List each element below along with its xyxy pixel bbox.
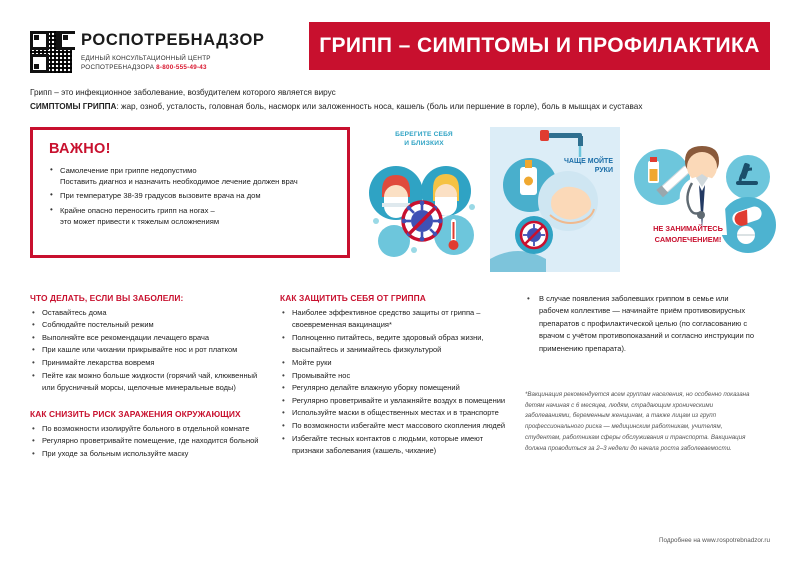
content-columns: ЧТО ДЕЛАТЬ, ЕСЛИ ВЫ ЗАБОЛЕЛИ: Оставайтес… (0, 275, 800, 461)
important-list: Самолечение при гриппе недопустимо Поста… (49, 165, 333, 228)
list-item: При уходе за больным используйте маску (30, 448, 266, 461)
people-virus-graphic (364, 155, 484, 267)
illustration-doctor: НЕ ЗАНИМАЙТЕСЬ САМОЛЕЧЕНИЕМ! (626, 127, 770, 272)
important-item: это может привести к тяжелым осложнениям (49, 216, 333, 228)
wash-hands-graphic (490, 127, 620, 272)
list-item: Принимайте лекарства вовремя (30, 357, 266, 370)
qr-code-icon (30, 31, 72, 73)
list-item: Промывайте нос (280, 370, 511, 383)
intro-definition: Грипп – это инфекционное заболевание, во… (30, 86, 770, 100)
middle-zone: ВАЖНО! Самолечение при гриппе недопустим… (0, 115, 800, 275)
rospotrebnadzor-logo: РОСПОТРЕБНАДЗОР ЕДИНЫЙ КОНСУЛЬТАЦИОННЫЙ … (30, 22, 295, 82)
column-how-to-protect: КАК ЗАЩИТИТЬ СЕБЯ ОТ ГРИППА Наиболее эфф… (280, 293, 525, 461)
list-item: Выполняйте все рекомендации лечащего вра… (30, 332, 266, 345)
intro-symptoms: СИМПТОМЫ ГРИППА: жар, озноб, усталость, … (30, 100, 770, 114)
poster-header: РОСПОТРЕБНАДЗОР ЕДИНЫЙ КОНСУЛЬТАЦИОННЫЙ … (0, 0, 800, 82)
symptoms-label: СИМПТОМЫ ГРИППА (30, 102, 116, 111)
column-what-to-do: ЧТО ДЕЛАТЬ, ЕСЛИ ВЫ ЗАБОЛЕЛИ: Оставайтес… (30, 293, 280, 461)
list-item: Мойте руки (280, 357, 511, 370)
column-antivirals: В случае появления заболевших гриппом в … (525, 293, 770, 461)
title-banner: ГРИПП – СИМПТОМЫ И ПРОФИЛАКТИКА (309, 22, 770, 70)
hotline-phone[interactable]: 8-800-555-49-43 (156, 64, 207, 71)
faucet-icon (548, 133, 582, 138)
poster-page: РОСПОТРЕБНАДЗОР ЕДИНЫЙ КОНСУЛЬТАЦИОННЫЙ … (0, 0, 800, 566)
list-item: Оставайтесь дома (30, 307, 266, 320)
list-item: Используйте маски в общественных местах … (280, 407, 511, 420)
vaccination-footnote: *Вакцинация рекомендуется всем группам н… (525, 390, 756, 455)
logo-subtitle-line1: ЕДИНЫЙ КОНСУЛЬТАЦИОННЫЙ ЦЕНТР (81, 54, 265, 63)
list-item: Избегайте тесных контактов с людьми, кот… (280, 433, 511, 458)
important-item: Поставить диагноз и назначить необходимо… (49, 176, 333, 188)
symptoms-text: : жар, озноб, усталость, головная боль, … (116, 102, 642, 111)
list-how-to-protect: Наиболее эффективное средство защиты от … (280, 307, 511, 458)
logo-subtitle-line2: РОСПОТРЕБНАДЗОРА 8-800-555-49-43 (81, 63, 265, 72)
list-item: Регулярно проветривайте и увлажняйте воз… (280, 395, 511, 408)
list-item: При кашле или чихании прикрывайте нос и … (30, 344, 266, 357)
list-item: По возможности избегайте мест массового … (280, 420, 511, 433)
important-box: ВАЖНО! Самолечение при гриппе недопустим… (30, 127, 350, 258)
illustration-strip: БЕРЕГИТЕ СЕБЯ И БЛИЗКИХ (364, 127, 770, 272)
logo-title: РОСПОТРЕБНАДЗОР (81, 32, 265, 49)
caption-protect-yourself: БЕРЕГИТЕ СЕБЯ И БЛИЗКИХ (364, 127, 484, 149)
list-reduce-risk: По возможности изолируйте больного в отд… (30, 423, 266, 461)
list-item: Регулярно делайте влажную уборку помещен… (280, 382, 511, 395)
important-heading: ВАЖНО! (49, 141, 333, 157)
logo-text-block: РОСПОТРЕБНАДЗОР ЕДИНЫЙ КОНСУЛЬТАЦИОННЫЙ … (81, 32, 265, 72)
list-item: Наиболее эффективное средство защиты от … (280, 307, 511, 332)
list-antivirals: В случае появления заболевших гриппом в … (525, 293, 756, 356)
section-title-reduce-risk: КАК СНИЗИТЬ РИСК ЗАРАЖЕНИЯ ОКРУЖАЮЩИХ (30, 409, 266, 419)
page-title: ГРИПП – СИМПТОМЫ И ПРОФИЛАКТИКА (319, 34, 760, 58)
logo-subtitle: ЕДИНЫЙ КОНСУЛЬТАЦИОННЫЙ ЦЕНТР РОСПОТРЕБН… (81, 54, 265, 72)
list-item: Пейте как можно больше жидкости (горячий… (30, 370, 266, 395)
section-title-how-to-protect: КАК ЗАЩИТИТЬ СЕБЯ ОТ ГРИППА (280, 293, 511, 303)
list-item: Соблюдайте постельный режим (30, 319, 266, 332)
illustration-wash-hands: ЧАЩЕ МОЙТЕ РУКИ (490, 127, 620, 272)
more-info-link[interactable]: Подробнее на www.rospotrebnadzor.ru (659, 537, 770, 544)
list-item: Регулярно проветривайте помещение, где н… (30, 435, 266, 448)
illustration-protect-yourself: БЕРЕГИТЕ СЕБЯ И БЛИЗКИХ (364, 127, 484, 272)
list-item: По возможности изолируйте больного в отд… (30, 423, 266, 436)
list-item: Полноценно питайтесь, ведите здоровый об… (280, 332, 511, 357)
intro-block: Грипп – это инфекционное заболевание, во… (0, 82, 800, 115)
list-what-to-do: Оставайтесь дома Соблюдайте постельный р… (30, 307, 266, 395)
important-item: При температуре 38-39 градусов вызовите … (49, 190, 333, 202)
section-title-what-to-do: ЧТО ДЕЛАТЬ, ЕСЛИ ВЫ ЗАБОЛЕЛИ: (30, 293, 266, 303)
caption-no-self-medication: НЕ ЗАНИМАЙТЕСЬ САМОЛЕЧЕНИЕМ! (634, 224, 742, 245)
list-item: В случае появления заболевших гриппом в … (525, 293, 756, 356)
